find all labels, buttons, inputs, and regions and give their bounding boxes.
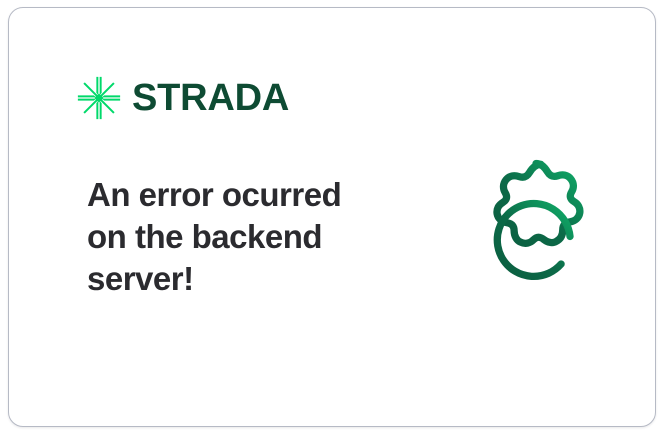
error-message: An error ocurred on the backend server! <box>87 174 387 301</box>
gear-illustration <box>455 147 617 313</box>
error-screen: STRADA An error ocurred on the backend s… <box>0 0 666 436</box>
brand-lockup: STRADA <box>77 76 289 120</box>
gear-icon <box>455 147 617 313</box>
strada-asterisk-icon <box>77 76 121 120</box>
brand-wordmark: STRADA <box>132 79 289 117</box>
error-card: STRADA An error ocurred on the backend s… <box>8 7 656 427</box>
